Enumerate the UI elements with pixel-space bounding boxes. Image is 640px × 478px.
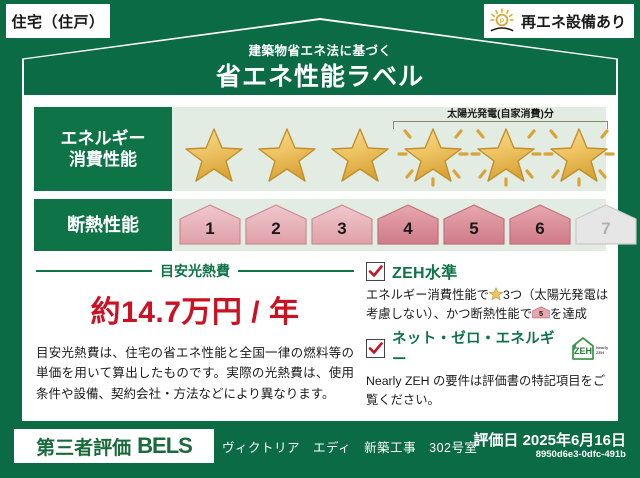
star-icon-solar (397, 121, 469, 187)
badge-dwelling-type-label: 住宅（住戸） (11, 11, 104, 32)
insulation-performance-label-block: 断熱性能 (34, 199, 172, 251)
label-header: 建築物省エネ法に基づく 省エネ性能ラベル 住宅（住戸） (0, 0, 640, 95)
evaluation-date: 評価日 2025年6月16日 (473, 429, 626, 450)
bels-badge-en: BELS (137, 433, 192, 459)
checkbox-checked-icon (366, 339, 385, 358)
claim-zeh-standard: ZEH水準 エネルギー消費性能で3つ（太陽光発電は考慮しない）、かつ断熱性能で5… (366, 259, 610, 323)
energy-label-line1: エネルギー (61, 128, 146, 149)
utility-cost-section: 目安光熱費 約14.7万円 / 年 目安光熱費は、住宅の省エネ性能と全国一律の燃… (36, 261, 354, 404)
insulation-performance-row: 断熱性能 1 2 3 (34, 199, 606, 251)
svg-text:P: P (500, 18, 505, 25)
zeh-nearly-logo-icon: ZEH Nearly ZEH (568, 335, 610, 361)
badge-renewable-label: 再エネ設備あり (521, 11, 626, 32)
house-badge-icon-inline: 5 (532, 306, 550, 319)
house-level-3: 3 (310, 203, 374, 247)
energy-rating-area: 太陽光発電(自家消費)分 (172, 107, 606, 191)
star-icon-solar (470, 121, 542, 187)
utility-cost-heading-label: 目安光熱費 (160, 261, 230, 281)
house-level-1: 1 (178, 203, 242, 247)
heading-rule-right (238, 270, 354, 272)
claim-net-zero-energy-body: Nearly ZEH の要件は評価書の特記項目をご覧ください。 (366, 372, 610, 409)
house-level-4: 4 (376, 203, 440, 247)
insulation-scale: 1 2 3 4 5 (178, 203, 638, 247)
house-level-2: 2 (244, 203, 308, 247)
star-icon (324, 121, 396, 187)
bels-badge-jp: 第三者評価 (36, 433, 131, 460)
claim-zeh-standard-body: エネルギー消費性能で3つ（太陽光発電は考慮しない）、かつ断熱性能で5を達成 (366, 286, 610, 323)
solar-sun-icon: P (488, 8, 516, 34)
claims-section: ZEH水準 エネルギー消費性能で3つ（太陽光発電は考慮しない）、かつ断熱性能で5… (366, 259, 610, 414)
bels-badge: 第三者評価 BELS (14, 429, 214, 463)
badge-renewable-equipment: P 再エネ設備あり (484, 4, 634, 38)
claim-zeh-standard-head: ZEH水準 (366, 259, 610, 283)
house-level-6-value: 6 (508, 219, 572, 239)
claim-net-zero-energy: ネット・ゼロ・エネルギー ZEH Nearly ZEH Nearly ZEH の… (366, 327, 610, 409)
utility-cost-heading: 目安光熱費 (36, 261, 354, 281)
energy-label-line2: 消費性能 (69, 149, 137, 170)
evaluation-date-value: 2025年6月16日 (523, 432, 626, 449)
claim-zeh-body-part3: を達成 (550, 307, 587, 321)
insulation-rating-area: 1 2 3 4 5 (172, 199, 606, 251)
page-title: 省エネ性能ラベル (0, 57, 640, 93)
claim-net-zero-energy-title: ネット・ゼロ・エネルギー (392, 327, 561, 369)
utility-cost-note: 目安光熱費は、住宅の省エネ性能と全国一律の燃料等の単価を用いて算出したものです。… (36, 343, 354, 404)
claim-zeh-body-part1: エネルギー消費性能で (366, 288, 489, 302)
badge-dwelling-type: 住宅（住戸） (6, 4, 110, 38)
heading-rule-left (36, 270, 152, 272)
house-level-1-value: 1 (178, 219, 242, 239)
energy-performance-label-block: エネルギー 消費性能 (34, 107, 172, 191)
house-level-7: 7 (574, 203, 638, 247)
star-icon-inline (489, 287, 503, 301)
house-level-4-value: 4 (376, 219, 440, 239)
checkbox-checked-icon (366, 262, 385, 281)
star-icon (251, 121, 323, 187)
label-body-panel: エネルギー 消費性能 太陽光発電(自家消費)分 (22, 95, 618, 421)
house-level-2-value: 2 (244, 219, 308, 239)
evaluation-id: 8950d6e3-0dfc-491b (536, 449, 626, 460)
svg-text:5: 5 (539, 309, 543, 318)
utility-cost-value: 約14.7万円 / 年 (36, 287, 354, 331)
star-icon-solar (543, 121, 615, 187)
house-level-7-value: 7 (574, 219, 638, 239)
star-rating (178, 121, 615, 187)
house-level-5-value: 5 (442, 219, 506, 239)
property-name: ヴィクトリア エディ 新築工事 302号室 (222, 437, 477, 456)
label-footer: 第三者評価 BELS ヴィクトリア エディ 新築工事 302号室 評価日 202… (0, 421, 640, 478)
svg-text:ZEH: ZEH (596, 350, 604, 355)
insulation-label: 断熱性能 (67, 214, 139, 237)
claim-zeh-standard-title: ZEH水準 (392, 259, 458, 283)
house-level-6: 6 (508, 203, 572, 247)
claim-net-zero-energy-head: ネット・ゼロ・エネルギー ZEH Nearly ZEH (366, 327, 610, 369)
evaluation-date-label: 評価日 (473, 432, 518, 449)
energy-performance-row: エネルギー 消費性能 太陽光発電(自家消費)分 (34, 107, 606, 191)
house-level-5: 5 (442, 203, 506, 247)
house-level-3-value: 3 (310, 219, 374, 239)
solar-portion-note: 太陽光発電(自家消費)分 (393, 105, 608, 120)
svg-text:ZEH: ZEH (574, 346, 592, 356)
star-icon (178, 121, 250, 187)
energy-performance-label: 建築物省エネ法に基づく 省エネ性能ラベル 住宅（住戸） (0, 0, 640, 478)
